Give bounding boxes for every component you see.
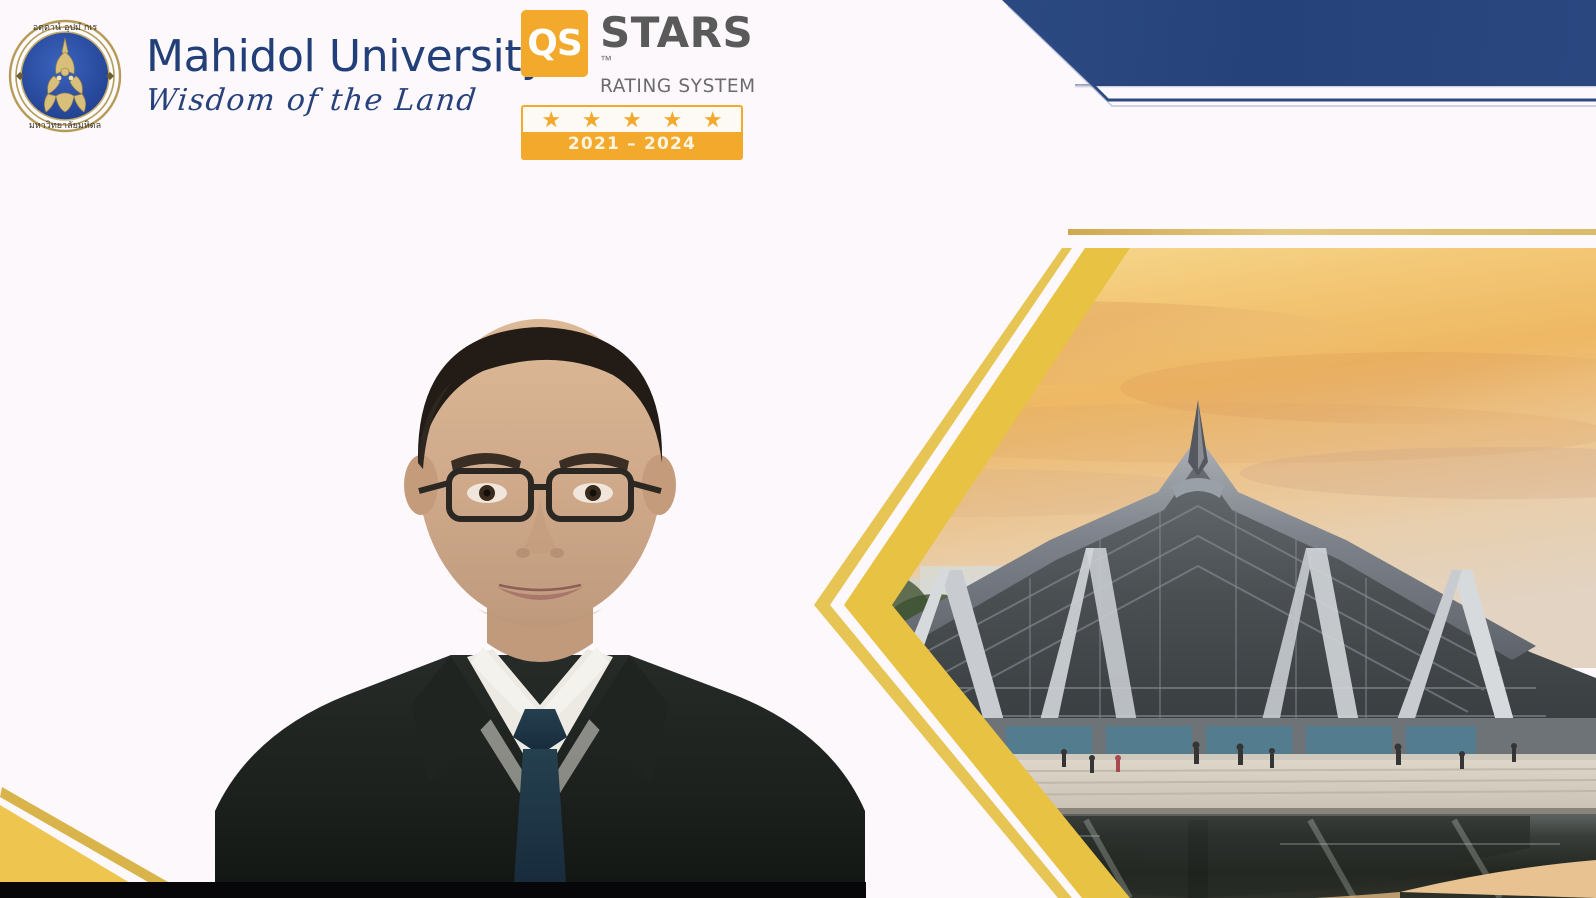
mahidol-brand-lockup: อตฺตานํ อุปมํ กเร มหาวิทยาลัยมหิดล bbox=[6, 8, 547, 141]
prince-mahidol-hall-illustration bbox=[800, 248, 1596, 898]
qs-stars-title: STARS bbox=[600, 12, 753, 53]
video-letterbox-bar bbox=[0, 882, 866, 898]
mahidol-university-seal-icon: อตฺตานํ อุปมํ กเร มหาวิทยาลัยมหิดล bbox=[6, 8, 124, 141]
star-icon: ★ bbox=[703, 109, 723, 131]
svg-text:มหาวิทยาลัยมหิดล: มหาวิทยาลัยมหิดล bbox=[29, 120, 101, 131]
star-icon: ★ bbox=[663, 109, 683, 131]
university-name: Mahidol University bbox=[146, 35, 547, 80]
qs-wordmark: STARS™ RATING SYSTEM bbox=[600, 10, 756, 97]
campus-photo bbox=[800, 248, 1596, 898]
navy-banner-shape bbox=[985, 0, 1596, 86]
qs-star-row: ★ ★ ★ ★ ★ bbox=[523, 107, 741, 132]
brand-text-block: Mahidol University Wisdom of the Land bbox=[146, 31, 547, 119]
presentation-stage: อตฺตานํ อุปมํ กเร มหาวิทยาลัยมหิดล bbox=[0, 0, 1596, 898]
qs-stars-title-row: STARS™ bbox=[600, 12, 756, 75]
university-tagline: Wisdom of the Land bbox=[144, 83, 549, 118]
qs-badge-header: QS STARS™ RATING SYSTEM bbox=[521, 10, 749, 97]
qs-logo-icon: QS bbox=[521, 10, 588, 77]
gold-corner-wedge bbox=[0, 763, 250, 898]
qs-rating-system-subtitle: RATING SYSTEM bbox=[600, 76, 756, 97]
star-icon: ★ bbox=[582, 109, 602, 131]
star-icon: ★ bbox=[541, 109, 561, 131]
star-icon: ★ bbox=[622, 109, 642, 131]
qs-rating-strip: ★ ★ ★ ★ ★ 2021 – 2024 bbox=[521, 105, 743, 160]
svg-text:อตฺตานํ อุปมํ กเร: อตฺตานํ อุปมํ กเร bbox=[33, 22, 98, 33]
gold-top-rule bbox=[1068, 229, 1596, 235]
qs-validity-years: 2021 – 2024 bbox=[523, 132, 741, 158]
presenter-webcam-feed bbox=[215, 313, 865, 898]
navy-banner-shadow bbox=[1075, 84, 1596, 88]
qs-stars-badge: QS STARS™ RATING SYSTEM ★ ★ ★ ★ ★ 2021 –… bbox=[521, 10, 749, 160]
